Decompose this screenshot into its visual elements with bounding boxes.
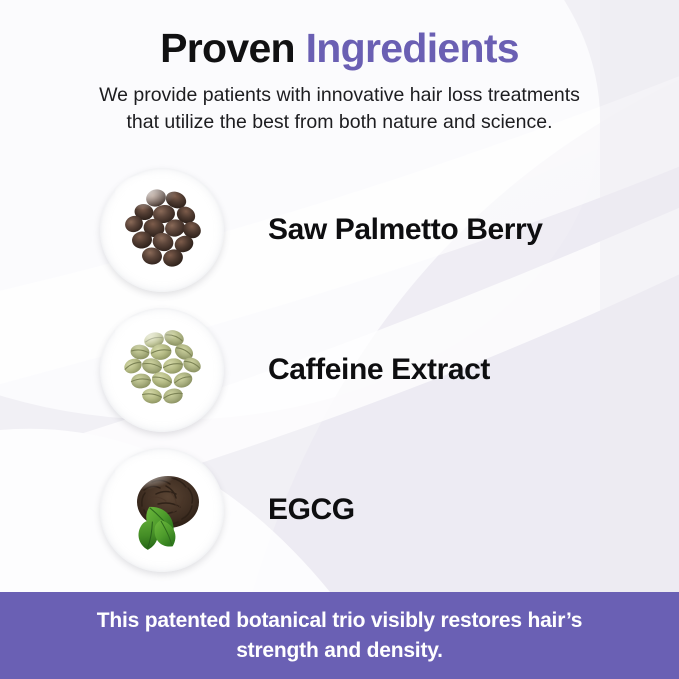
page-title: Proven Ingredients [0,0,679,72]
petri-dish-saw-palmetto-berry-icon [100,168,224,292]
page-title-part-proven: Proven [160,25,306,71]
petri-dish-caffeine-extract-icon [100,308,224,432]
list-item: Saw Palmetto Berry [0,160,679,300]
banner-line-2: strength and density. [60,636,620,666]
green-coffee-beans-icon [100,308,224,432]
list-item: EGCG [0,440,679,580]
bottom-banner: This patented botanical trio visibly res… [0,592,679,679]
petri-dish-egcg-icon [100,448,224,572]
banner-line-1: This patented botanical trio visibly res… [60,606,620,636]
page-subtitle-line-1: We provide patients with innovative hair… [40,82,640,109]
ingredient-label: Saw Palmetto Berry [268,213,543,247]
page-title-part-ingredients: Ingredients [306,25,519,71]
ingredient-list: Saw Palmetto Berry [0,160,679,580]
ingredient-label: EGCG [268,493,355,527]
petri-dish-glass [100,308,224,432]
page-subtitle: We provide patients with innovative hair… [40,82,640,136]
list-item: Caffeine Extract [0,300,679,440]
ingredients-poster: Proven Ingredients We provide patients w… [0,0,679,679]
banner-text: This patented botanical trio visibly res… [60,606,620,666]
page-subtitle-line-2: that utilize the best from both nature a… [40,109,640,136]
petri-dish-glass [100,448,224,572]
saw-palmetto-berries-icon [100,168,224,292]
ingredient-label: Caffeine Extract [268,353,490,387]
tea-leaves-icon [100,448,224,572]
petri-dish-glass [100,168,224,292]
header: Proven Ingredients We provide patients w… [0,0,679,136]
